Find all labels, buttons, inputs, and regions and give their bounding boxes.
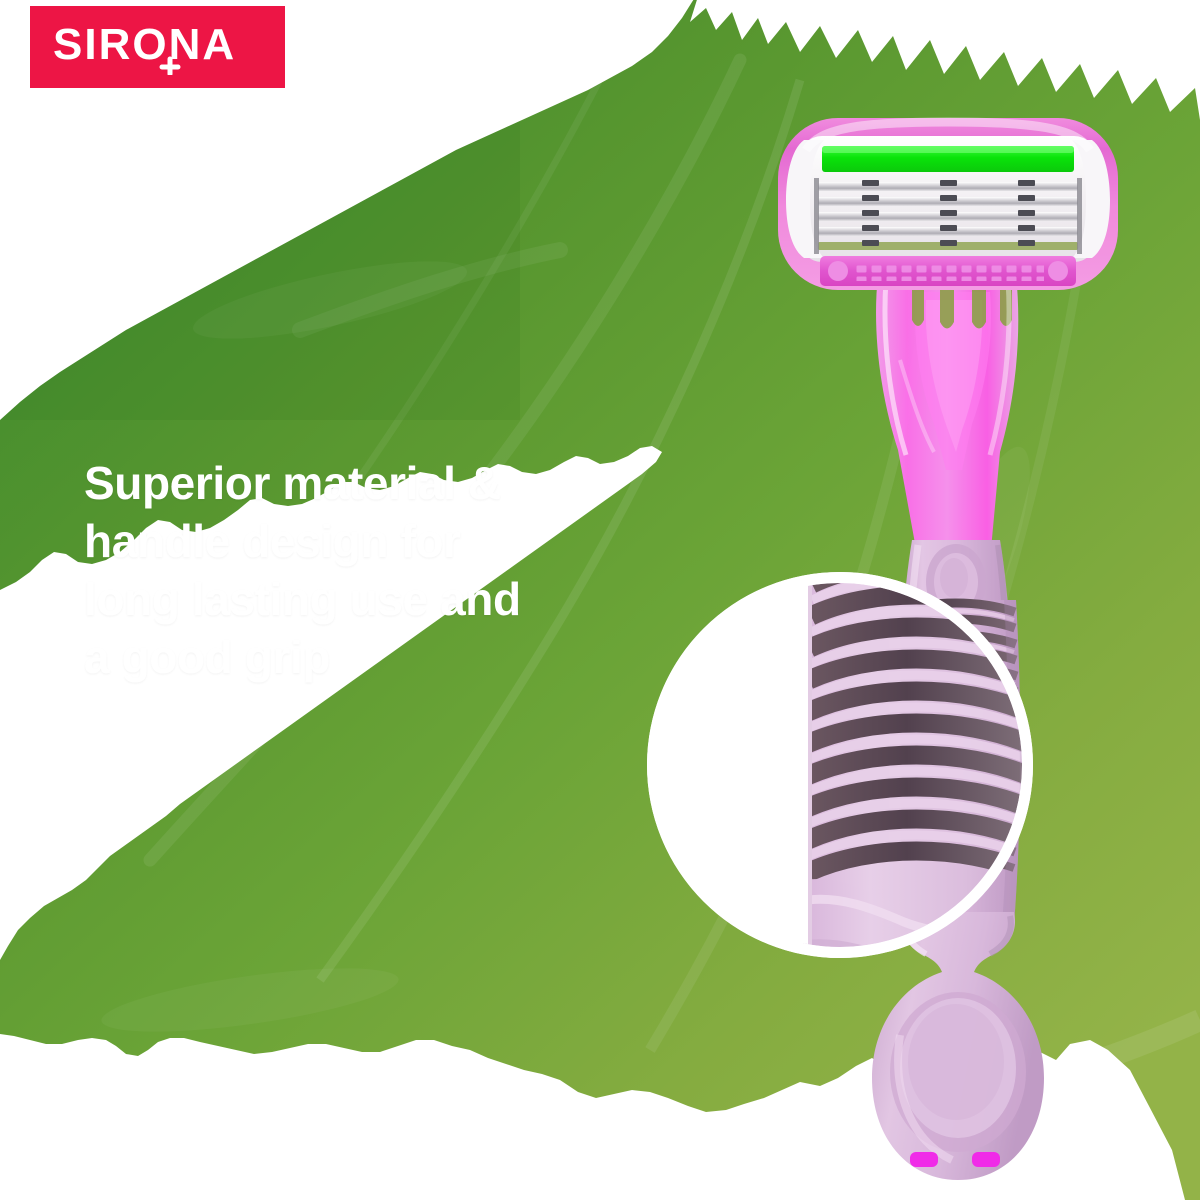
headline-line-2: handle design for bbox=[84, 513, 684, 571]
brand-logo[interactable]: SIRONA bbox=[30, 6, 285, 88]
headline-line-3: long lasting use and bbox=[84, 571, 684, 629]
headline-line-1: Superior material & bbox=[84, 455, 684, 513]
headline-text: Superior material & handle design for lo… bbox=[84, 455, 684, 687]
sirona-wordmark: SIRONA bbox=[53, 19, 263, 75]
logo-text: SIRONA bbox=[53, 20, 236, 69]
headline-line-4: a good grip bbox=[84, 629, 684, 687]
ad-canvas: SIRONA Superior material & handle design… bbox=[0, 0, 1200, 1200]
